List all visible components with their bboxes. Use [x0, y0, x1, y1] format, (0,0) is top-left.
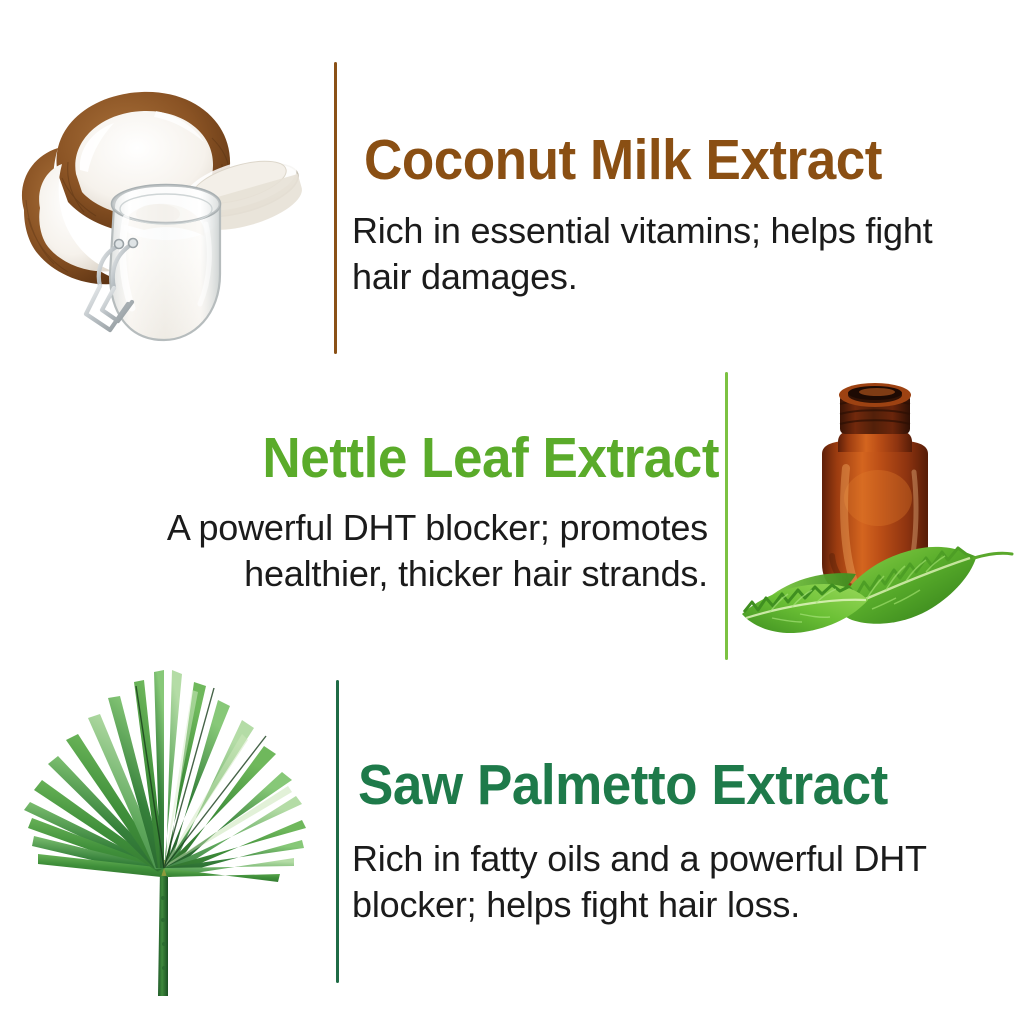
saw-palmetto-frond-image [8, 662, 330, 1004]
section-title-coconut: Coconut Milk Extract [364, 132, 882, 189]
nettle-oil-bottle-image [726, 368, 1024, 664]
coconut-and-jar-image [6, 78, 316, 360]
section-description-nettle: A powerful DHT blocker; promotes healthi… [120, 505, 708, 597]
section-divider-palmetto [336, 680, 339, 983]
section-description-palmetto: Rich in fatty oils and a powerful DHT bl… [352, 836, 1000, 928]
section-divider-coconut [334, 62, 337, 354]
section-title-nettle: Nettle Leaf Extract [262, 430, 719, 487]
section-title-palmetto: Saw Palmetto Extract [358, 757, 888, 814]
section-description-coconut: Rich in essential vitamins; helps fight … [352, 208, 982, 300]
infographic-canvas: Coconut Milk Extract Rich in essential v… [0, 0, 1024, 1024]
